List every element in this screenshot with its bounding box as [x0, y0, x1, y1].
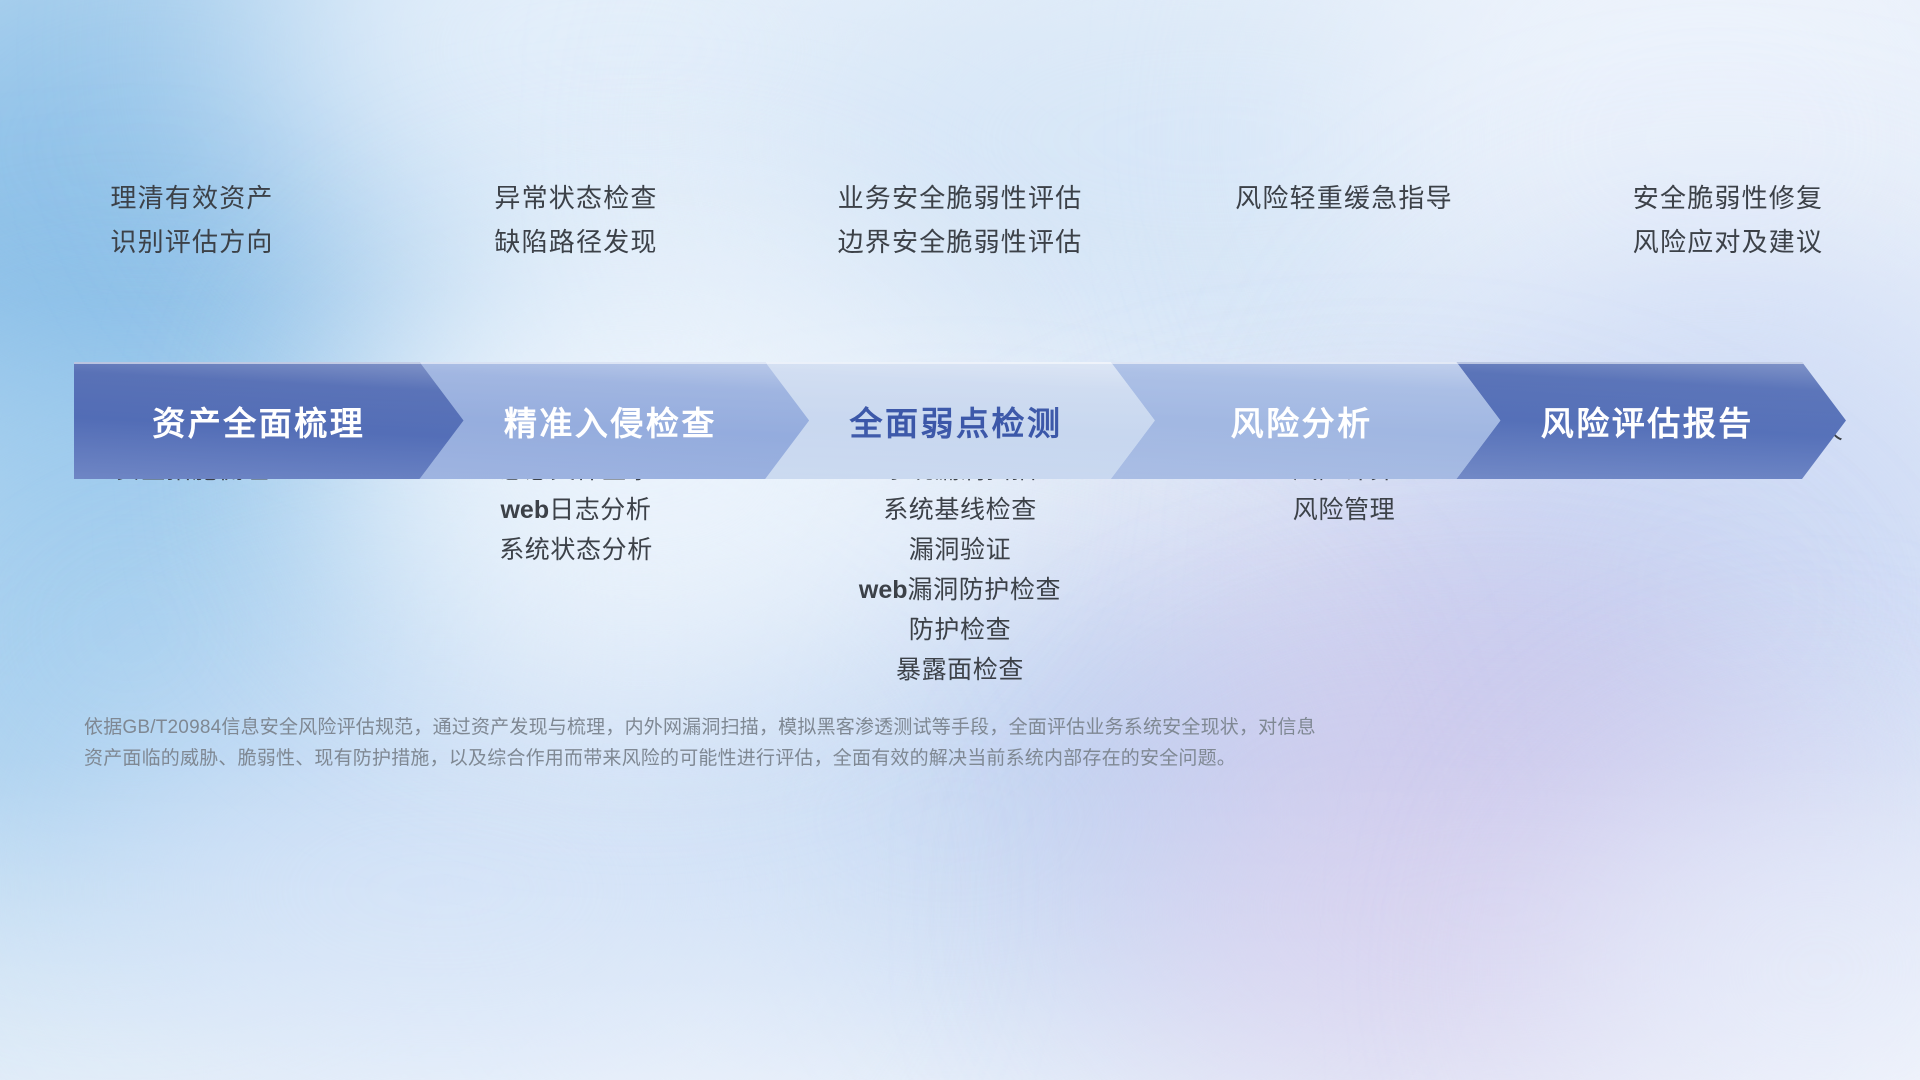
top-annotation-line: 识别评估方向	[110, 220, 273, 264]
chevron-label: 风险分析	[1231, 397, 1373, 445]
chevron-top-edge	[765, 362, 1155, 364]
chevron-stage-asset-inventory[interactable]: 资产全面梳理	[74, 362, 464, 479]
top-annotation-line: 边界安全脆弱性评估	[838, 220, 1083, 264]
chevron-stage-assessment-report[interactable]: 风险评估报告	[1456, 362, 1846, 479]
footer-line-1: 依据GB/T20984信息安全风险评估规范，通过资产发现与梳理，内外网漏洞扫描，…	[84, 712, 1344, 743]
chevron-top-edge	[1456, 362, 1846, 364]
chevron-label: 全面弱点检测	[849, 397, 1062, 445]
detail-list-item: 防护检查	[909, 610, 1011, 650]
detail-item-prefix: web	[859, 576, 908, 604]
detail-item-text: 漏洞防护检查	[908, 576, 1062, 604]
top-annotation-line: 业务安全脆弱性评估	[838, 176, 1083, 220]
top-annotation-line: 风险轻重缓急指导	[1235, 176, 1453, 220]
chevron-label: 精准入侵检查	[504, 397, 717, 445]
top-annotation-line: 风险应对及建议	[1633, 220, 1823, 264]
detail-list-item: 系统基线检查	[883, 490, 1037, 530]
top-annotation-group-asset-inventory: 理清有效资产识别评估方向	[0, 176, 384, 264]
top-annotation-group-intrusion-check: 异常状态检查缺陷路径发现	[384, 176, 768, 264]
detail-list-item: 系统状态分析	[499, 530, 653, 570]
top-annotation-line: 安全脆弱性修复	[1633, 176, 1823, 220]
top-annotation-line: 理清有效资产	[110, 176, 273, 220]
chevron-top-edge	[74, 362, 464, 364]
top-annotation-group-weakness-detection: 业务安全脆弱性评估边界安全脆弱性评估	[768, 176, 1152, 264]
detail-list-item: 风险管理	[1293, 490, 1395, 530]
chevron-stage-risk-analysis[interactable]: 风险分析	[1111, 362, 1501, 479]
detail-list-item: 暴露面检查	[896, 650, 1024, 690]
top-annotations-row: 理清有效资产识别评估方向异常状态检查缺陷路径发现业务安全脆弱性评估边界安全脆弱性…	[0, 176, 1920, 264]
footer-line-2: 资产面临的威胁、脆弱性、现有防护措施，以及综合作用而带来风险的可能性进行评估，全…	[84, 743, 1344, 774]
process-diagram: 理清有效资产识别评估方向异常状态检查缺陷路径发现业务安全脆弱性评估边界安全脆弱性…	[0, 0, 1920, 1080]
top-annotation-line: 异常状态检查	[494, 176, 657, 220]
detail-item-text: 日志分析	[549, 496, 651, 524]
footer-description: 依据GB/T20984信息安全风险评估规范，通过资产发现与梳理，内外网漏洞扫描，…	[84, 712, 1344, 774]
chevron-top-edge	[1111, 362, 1501, 364]
top-annotation-line: 缺陷路径发现	[494, 220, 657, 264]
detail-list-item: web日志分析	[500, 490, 651, 530]
top-annotation-group-assessment-report: 安全脆弱性修复风险应对及建议	[1536, 176, 1920, 264]
process-chevron-banner: 资产全面梳理精准入侵检查全面弱点检测风险分析风险评估报告	[74, 362, 1846, 479]
chevron-label: 资产全面梳理	[152, 397, 365, 445]
detail-list-item: web漏洞防护检查	[859, 570, 1061, 610]
chevron-top-edge	[420, 362, 810, 364]
chevron-stage-weakness-detection[interactable]: 全面弱点检测	[765, 362, 1155, 479]
chevron-label: 风险评估报告	[1541, 397, 1754, 445]
detail-list-item: 漏洞验证	[909, 530, 1011, 570]
top-annotation-group-risk-analysis: 风险轻重缓急指导	[1152, 176, 1536, 264]
detail-item-prefix: web	[500, 496, 549, 524]
chevron-stage-intrusion-check[interactable]: 精准入侵检查	[420, 362, 810, 479]
